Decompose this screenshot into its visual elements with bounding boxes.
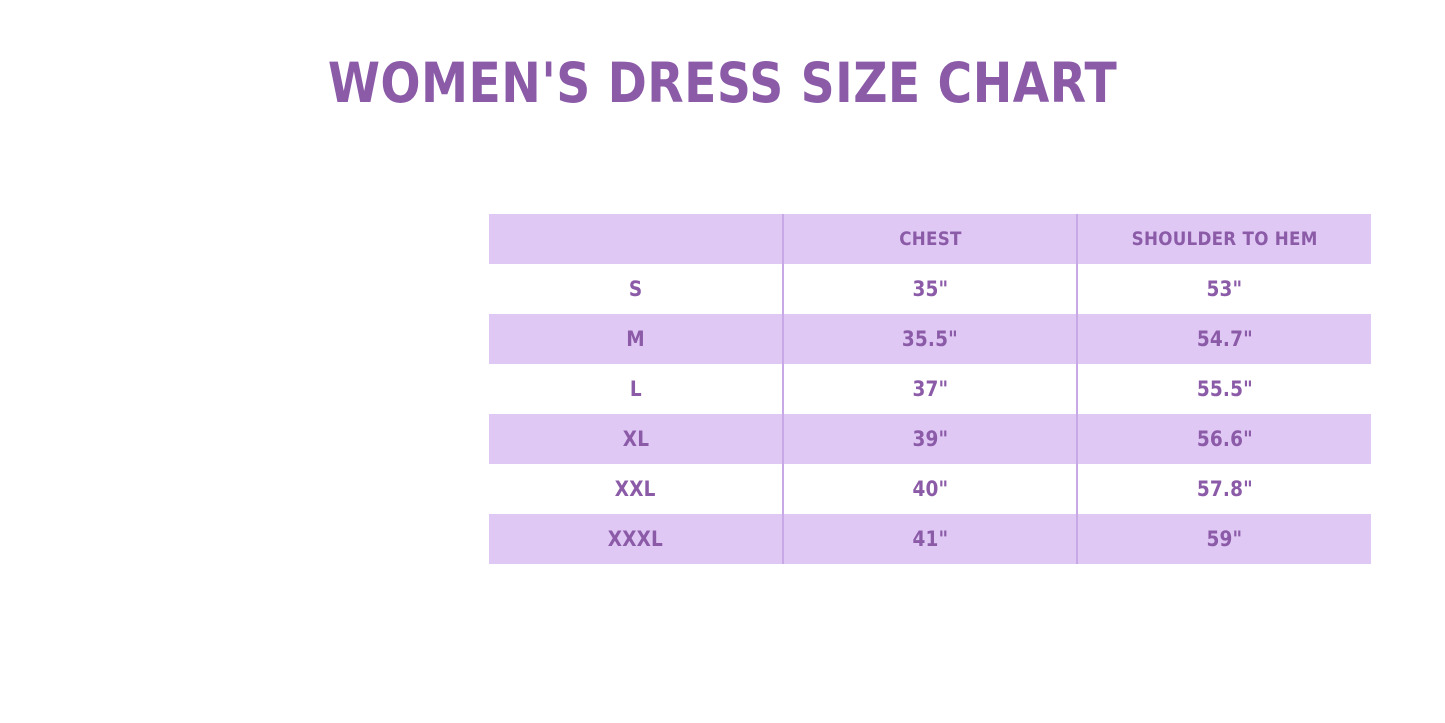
cell-shoulder-to-hem: 59" xyxy=(1077,514,1371,564)
table-header-row: CHEST SHOULDER TO HEM xyxy=(489,214,1371,264)
cell-shoulder-to-hem: 55.5" xyxy=(1077,364,1371,414)
cell-shoulder-to-hem: 57.8" xyxy=(1077,464,1371,514)
cell-size: L xyxy=(489,364,783,414)
table-row: XXL 40" 57.8" xyxy=(489,464,1371,514)
table-row: S 35" 53" xyxy=(489,264,1371,314)
cell-size: S xyxy=(489,264,783,314)
cell-chest: 37" xyxy=(783,364,1077,414)
column-header-size xyxy=(489,214,783,264)
cell-size: M xyxy=(489,314,783,364)
column-header-shoulder-to-hem: SHOULDER TO HEM xyxy=(1077,214,1371,264)
cell-chest: 40" xyxy=(783,464,1077,514)
table-row: XL 39" 56.6" xyxy=(489,414,1371,464)
cell-chest: 35.5" xyxy=(783,314,1077,364)
table-row: L 37" 55.5" xyxy=(489,364,1371,414)
table-header: CHEST SHOULDER TO HEM xyxy=(489,214,1371,264)
cell-size: XL xyxy=(489,414,783,464)
table-body: S 35" 53" M 35.5" xyxy=(489,264,1371,564)
table-row: M 35.5" 54.7" xyxy=(489,314,1371,364)
size-chart-page: WOMEN'S DRESS SIZE CHART CHEST SHOULDER … xyxy=(0,0,1445,723)
cell-shoulder-to-hem: 53" xyxy=(1077,264,1371,314)
cell-shoulder-to-hem: 56.6" xyxy=(1077,414,1371,464)
size-chart-table: CHEST SHOULDER TO HEM S 35" 53" xyxy=(489,214,1371,564)
cell-chest: 35" xyxy=(783,264,1077,314)
page-title: WOMEN'S DRESS SIZE CHART xyxy=(101,56,1344,111)
column-header-chest: CHEST xyxy=(783,214,1077,264)
cell-shoulder-to-hem: 54.7" xyxy=(1077,314,1371,364)
size-table-container: CHEST SHOULDER TO HEM S 35" 53" xyxy=(489,214,1371,564)
cell-chest: 41" xyxy=(783,514,1077,564)
cell-size: XXL xyxy=(489,464,783,514)
cell-chest: 39" xyxy=(783,414,1077,464)
cell-size: XXXL xyxy=(489,514,783,564)
table-row: XXXL 41" 59" xyxy=(489,514,1371,564)
